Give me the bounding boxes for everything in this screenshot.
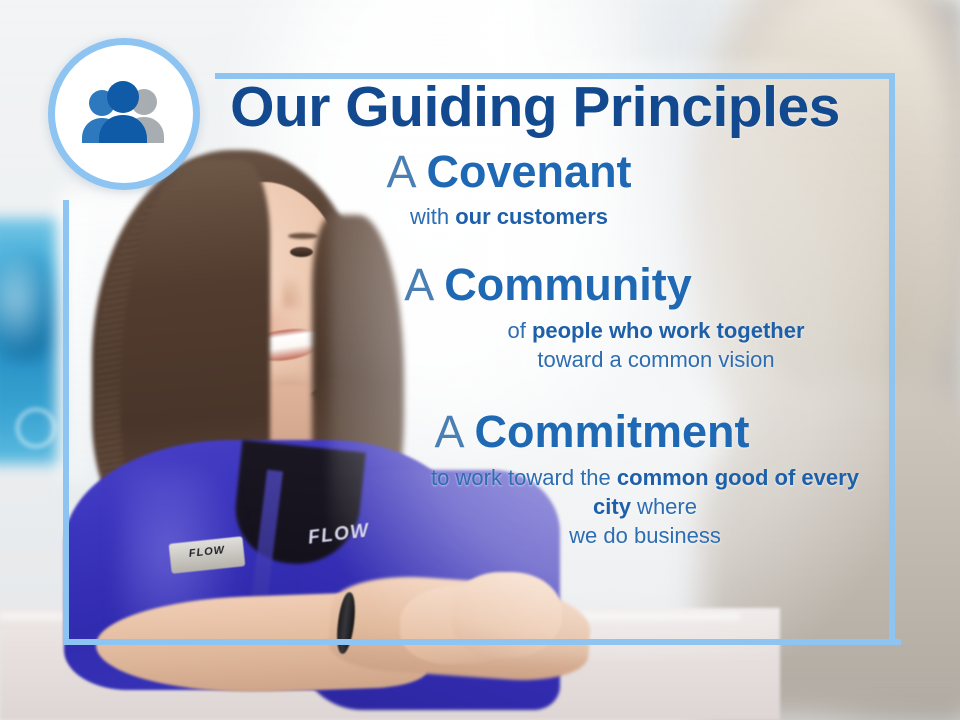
principle-commitment-sub-suffix: where [631, 494, 697, 519]
principle-commitment-article: A [434, 406, 462, 457]
principle-commitment-sub-line2: we do business [569, 523, 721, 548]
principle-commitment-subtext: to work toward the common good of every … [410, 463, 880, 550]
principle-covenant-headline: A Covenant [190, 148, 828, 197]
principle-covenant: A Covenant with our customers [190, 148, 880, 232]
principle-commitment: A Commitment to work toward the common g… [190, 408, 880, 550]
blurred-car-display [0, 250, 56, 360]
principle-commitment-headline: A Commitment [304, 408, 880, 457]
guiding-principles-graphic: FLOW FLOW [0, 0, 960, 720]
principle-community-article: A [404, 259, 432, 310]
principle-covenant-sub-emphasis: our customers [455, 204, 608, 229]
principle-covenant-article: A [386, 146, 414, 197]
principles-content: Our Guiding Principles A Covenant with o… [190, 78, 880, 550]
principle-community-headline: A Community [216, 261, 880, 310]
page-title: Our Guiding Principles [190, 78, 880, 138]
group-people-icon-badge [48, 38, 200, 190]
principle-community-sub-line2: toward a common vision [537, 347, 774, 372]
principle-community-sub-prefix: of [507, 318, 531, 343]
principle-community-subtext: of people who work togethertoward a comm… [446, 316, 866, 374]
blurred-brand-logo [16, 408, 56, 448]
principle-community-noun: Community [444, 259, 692, 310]
principle-covenant-sub-prefix: with [410, 204, 455, 229]
principle-commitment-noun: Commitment [475, 406, 750, 457]
employee-hand-right [452, 572, 562, 658]
principle-covenant-subtext: with our customers [190, 202, 828, 231]
principle-commitment-sub-prefix: to work toward the [431, 465, 617, 490]
principle-community-sub-emphasis: people who work together [532, 318, 805, 343]
principle-community: A Community of people who work togethert… [190, 261, 880, 374]
group-people-icon [78, 81, 170, 147]
principle-covenant-noun: Covenant [427, 146, 632, 197]
